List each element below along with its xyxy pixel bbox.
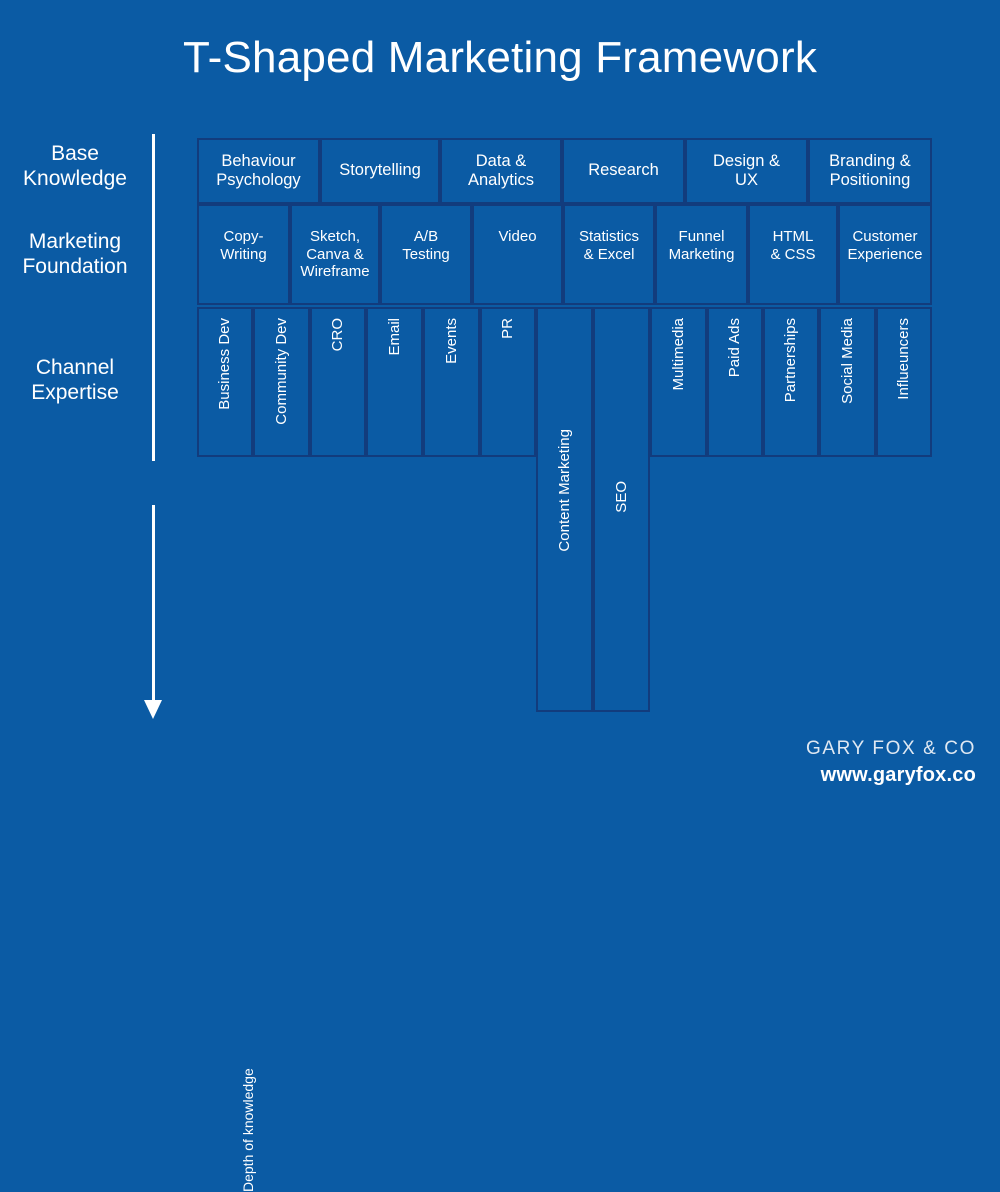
cell-channel-expertise-multimedia[interactable]: Multimedia bbox=[650, 307, 707, 457]
cell-label: Storytelling bbox=[339, 161, 421, 180]
cell-label-line: Sketch, bbox=[300, 228, 369, 246]
cell-label-line: Positioning bbox=[829, 171, 911, 190]
cell-channel-expertise-community-dev[interactable]: Community Dev bbox=[253, 307, 310, 457]
cell-label: FunnelMarketing bbox=[669, 228, 735, 263]
row-label-marketing-foundation: Marketing Foundation bbox=[0, 229, 150, 279]
cell-label: Events bbox=[443, 318, 461, 364]
cell-label: HTML& CSS bbox=[770, 228, 815, 263]
cell-label-line: Analytics bbox=[468, 171, 534, 190]
depth-arrow-shaft bbox=[152, 505, 155, 705]
cell-channel-expertise-pr[interactable]: PR bbox=[480, 307, 536, 457]
depth-arrow-head-icon bbox=[144, 700, 162, 719]
cell-label: A/BTesting bbox=[402, 228, 450, 263]
cell-channel-expertise-email[interactable]: Email bbox=[366, 307, 423, 457]
cell-label-line: Video bbox=[498, 228, 536, 246]
cell-channel-expertise-partnerships[interactable]: Partnerships bbox=[763, 307, 819, 457]
cell-label-line: & CSS bbox=[770, 246, 815, 264]
cell-label: Multimedia bbox=[670, 318, 688, 391]
cell-label-line: Design & bbox=[713, 152, 780, 171]
brand-name: GARY FOX & CO bbox=[806, 738, 976, 760]
cell-channel-expertise-paid-ads[interactable]: Paid Ads bbox=[707, 307, 763, 457]
cell-label-line: UX bbox=[713, 171, 780, 190]
cell-label-line: Psychology bbox=[216, 171, 300, 190]
cell-label-line: Copy- bbox=[220, 228, 266, 246]
cell-marketing-foundation-video[interactable]: Video bbox=[472, 204, 563, 305]
cell-marketing-foundation-statistics-excel[interactable]: Statistics& Excel bbox=[563, 204, 655, 305]
cell-label: Research bbox=[588, 161, 659, 180]
cell-marketing-foundation-html-css[interactable]: HTML& CSS bbox=[748, 204, 838, 305]
row-label-base-line1: Base bbox=[0, 141, 150, 166]
cell-label: Partnerships bbox=[782, 318, 800, 402]
cell-base-knowledge-behaviour-psychology[interactable]: BehaviourPsychology bbox=[197, 138, 320, 204]
cell-label-line: Testing bbox=[402, 246, 450, 264]
page-title: T-Shaped Marketing Framework bbox=[0, 33, 1000, 83]
cell-label-line: Behaviour bbox=[216, 152, 300, 171]
cell-label-line: Writing bbox=[220, 246, 266, 264]
cell-label: Influeuncers bbox=[895, 318, 913, 400]
row-label-channel-line1: Channel bbox=[0, 355, 150, 380]
cell-label-line: Marketing bbox=[669, 246, 735, 264]
cell-stem-seo[interactable]: SEO bbox=[593, 307, 650, 712]
cell-label: Paid Ads bbox=[726, 318, 744, 377]
cell-label-line: Funnel bbox=[669, 228, 735, 246]
cell-label-line: Research bbox=[588, 161, 659, 180]
cell-channel-expertise-influeuncers[interactable]: Influeuncers bbox=[876, 307, 932, 457]
vertical-separator-line bbox=[152, 134, 155, 461]
cell-label: Business Dev bbox=[216, 318, 234, 410]
cell-label: PR bbox=[499, 318, 517, 339]
cell-base-knowledge-design-ux[interactable]: Design &UX bbox=[685, 138, 808, 204]
cell-marketing-foundation-sketch-canva-wireframe[interactable]: Sketch,Canva &Wireframe bbox=[290, 204, 380, 305]
cell-label: CustomerExperience bbox=[847, 228, 922, 263]
cell-label: Data &Analytics bbox=[468, 152, 534, 191]
cell-marketing-foundation-copy-writing[interactable]: Copy-Writing bbox=[197, 204, 290, 305]
row-label-foundation-line1: Marketing bbox=[0, 229, 150, 254]
cell-label: Statistics& Excel bbox=[579, 228, 639, 263]
cell-label-line: Data & bbox=[468, 152, 534, 171]
cell-label: Video bbox=[498, 228, 536, 246]
cell-label: CRO bbox=[329, 318, 347, 351]
cell-label: Branding &Positioning bbox=[829, 152, 911, 191]
slide-canvas: T-Shaped Marketing Framework Base Knowle… bbox=[0, 0, 1000, 800]
cell-label: Email bbox=[386, 318, 404, 356]
cell-label-line: Storytelling bbox=[339, 161, 421, 180]
row-label-channel-expertise: Channel Expertise bbox=[0, 355, 150, 405]
cell-label-line: A/B bbox=[402, 228, 450, 246]
cell-label: Design &UX bbox=[713, 152, 780, 191]
cell-label: Social Media bbox=[839, 318, 857, 404]
cell-label: Content Marketing bbox=[556, 429, 574, 552]
cell-label-line: Statistics bbox=[579, 228, 639, 246]
cell-label-line: Wireframe bbox=[300, 263, 369, 281]
cell-label: BehaviourPsychology bbox=[216, 152, 300, 191]
cell-marketing-foundation-funnel-marketing[interactable]: FunnelMarketing bbox=[655, 204, 748, 305]
row-label-base-knowledge: Base Knowledge bbox=[0, 141, 150, 191]
depth-of-knowledge-label: Depth of knowledge bbox=[240, 1002, 256, 1192]
cell-label: Sketch,Canva &Wireframe bbox=[300, 228, 369, 281]
cell-channel-expertise-social-media[interactable]: Social Media bbox=[819, 307, 876, 457]
row-label-base-line2: Knowledge bbox=[0, 166, 150, 191]
cell-label-line: & Excel bbox=[579, 246, 639, 264]
cell-label: Copy-Writing bbox=[220, 228, 266, 263]
cell-label-line: Experience bbox=[847, 246, 922, 264]
cell-channel-expertise-business-dev[interactable]: Business Dev bbox=[197, 307, 253, 457]
cell-label: SEO bbox=[613, 481, 631, 513]
cell-label: Community Dev bbox=[273, 318, 291, 425]
cell-label-line: Canva & bbox=[300, 246, 369, 264]
cell-channel-expertise-events[interactable]: Events bbox=[423, 307, 480, 457]
cell-marketing-foundation-a-b-testing[interactable]: A/BTesting bbox=[380, 204, 472, 305]
cell-stem-content-marketing[interactable]: Content Marketing bbox=[536, 307, 593, 712]
cell-base-knowledge-storytelling[interactable]: Storytelling bbox=[320, 138, 440, 204]
cell-label-line: HTML bbox=[770, 228, 815, 246]
cell-channel-expertise-cro[interactable]: CRO bbox=[310, 307, 366, 457]
cell-base-knowledge-data-analytics[interactable]: Data &Analytics bbox=[440, 138, 562, 204]
brand-url[interactable]: www.garyfox.co bbox=[821, 764, 976, 787]
cell-label-line: Customer bbox=[847, 228, 922, 246]
cell-marketing-foundation-customer-experience[interactable]: CustomerExperience bbox=[838, 204, 932, 305]
row-label-channel-line2: Expertise bbox=[0, 380, 150, 405]
cell-base-knowledge-branding-positioning[interactable]: Branding &Positioning bbox=[808, 138, 932, 204]
cell-label-line: Branding & bbox=[829, 152, 911, 171]
cell-base-knowledge-research[interactable]: Research bbox=[562, 138, 685, 204]
row-label-foundation-line2: Foundation bbox=[0, 254, 150, 279]
